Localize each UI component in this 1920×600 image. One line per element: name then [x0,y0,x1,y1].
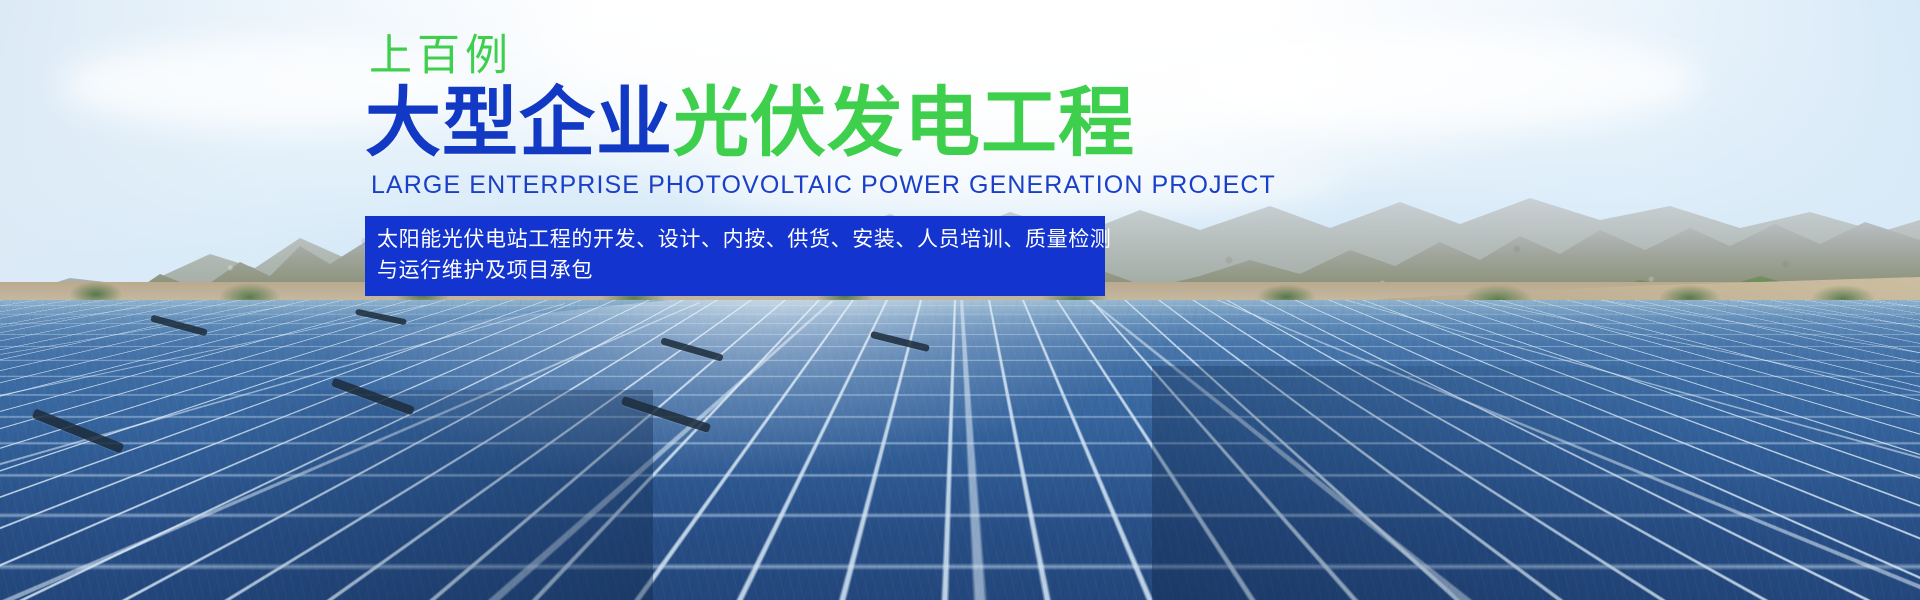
headline-part-blue: 大型企业 [365,81,673,166]
description-box: 太阳能光伏电站工程的开发、设计、内按、供货、安装、人员培训、质量检测 与运行维护… [365,216,1105,296]
solar-panel-field [0,300,1920,600]
subtitle-english: LARGE ENTERPRISE PHOTOVOLTAIC POWER GENE… [371,172,1565,200]
description-line-1: 太阳能光伏电站工程的开发、设计、内按、供货、安装、人员培训、质量检测 [377,225,1093,255]
solar-project-banner: 上百例 大型企业光伏发电工程 LARGE ENTERPRISE PHOTOVOL… [0,0,1920,600]
panel-shadow-left [0,390,653,600]
eyebrow-text: 上百例 [369,34,1565,79]
page-title: 大型企业光伏发电工程 [365,85,1565,163]
headline-part-green: 光伏发电工程 [673,81,1135,166]
description-line-2: 与运行维护及项目承包 [377,256,1093,286]
panel-shadow-right [1152,366,1920,600]
banner-copy: 上百例 大型企业光伏发电工程 LARGE ENTERPRISE PHOTOVOL… [365,34,1565,296]
